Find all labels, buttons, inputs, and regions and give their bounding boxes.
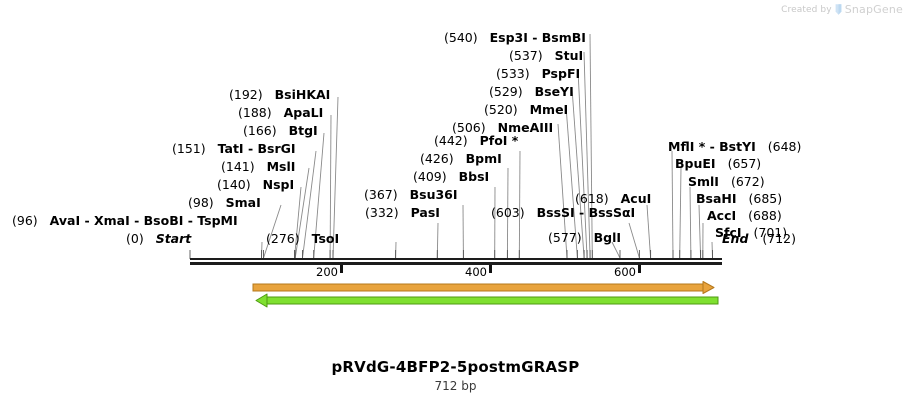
site-position: (140) (217, 177, 251, 192)
site-label-618[interactable]: (618) AcuI (575, 192, 651, 205)
site-label-442[interactable]: (442) PfoI * (434, 134, 518, 147)
site-enzymes: BtgI (289, 123, 318, 138)
ruler-tick-600 (638, 265, 641, 273)
site-enzymes: NspI (263, 177, 295, 192)
site-enzymes: Esp3I - BsmBI (490, 30, 586, 45)
terminal-position: (712) (762, 231, 796, 246)
site-label-276[interactable]: (276) TsoI (266, 232, 339, 245)
site-position: (520) (484, 102, 518, 117)
site-enzymes: MmeI (530, 102, 569, 117)
sequence-backbone[interactable] (190, 258, 722, 265)
site-position: (151) (172, 141, 206, 156)
plasmid-name: pRVdG-4BFP2-5postmGRASP (0, 358, 911, 376)
site-position: (657) (728, 156, 762, 171)
site-enzymes: BbsI (459, 169, 490, 184)
site-position: (98) (188, 195, 214, 210)
site-label-151[interactable]: (151) TatI - BsrGI (172, 142, 296, 155)
restriction-map-canvas: Created by SnapGene (0, 0, 911, 400)
site-label-409[interactable]: (409) BbsI (413, 170, 489, 183)
terminal-position: (0) (126, 231, 144, 246)
site-position: (688) (748, 208, 782, 223)
site-label-367[interactable]: (367) Bsu36I (364, 188, 458, 201)
site-position: (672) (731, 174, 765, 189)
feature-arrows (0, 284, 911, 310)
site-position: (367) (364, 187, 398, 202)
site-position: (618) (575, 191, 609, 206)
site-position: (426) (420, 151, 454, 166)
site-enzymes: BsaHI (696, 191, 737, 206)
site-position: (276) (266, 231, 300, 246)
plasmid-footer: pRVdG-4BFP2-5postmGRASP 712 bp (0, 358, 911, 393)
site-label-140[interactable]: (140) NspI (217, 178, 294, 191)
sequence-ruler: 200 400 600 (0, 265, 911, 283)
site-enzymes: AvaI - XmaI - BsoBI - TspMI (50, 213, 238, 228)
site-position: (141) (221, 159, 255, 174)
site-position: (577) (548, 230, 582, 245)
site-label-332[interactable]: (332) PasI (365, 206, 440, 219)
feature-green (256, 294, 718, 307)
site-enzymes: BssSI - BssSαI (537, 205, 636, 220)
site-position: (533) (496, 66, 530, 81)
site-position: (188) (238, 105, 272, 120)
site-position: (192) (229, 87, 263, 102)
feature-orange (253, 282, 714, 294)
site-enzymes: SmaI (226, 195, 261, 210)
site-enzymes: PspFI (542, 66, 581, 81)
site-enzymes: ApaLI (284, 105, 324, 120)
ruler-label-400: 400 (465, 265, 489, 279)
site-position: (442) (434, 133, 468, 148)
terminal-name: Start (156, 231, 192, 246)
site-label-688[interactable]: AccI (688) (707, 209, 782, 222)
site-label-577[interactable]: (577) BglI (548, 231, 621, 244)
site-label-96[interactable]: (96) AvaI - XmaI - BsoBI - TspMI (12, 214, 238, 227)
site-label-141[interactable]: (141) MslI (221, 160, 295, 173)
site-enzymes: StuI (555, 48, 584, 63)
ruler-label-200: 200 (316, 265, 340, 279)
terminal-label-start[interactable]: (0) Start (126, 232, 191, 245)
site-enzymes: PfoI * (480, 133, 519, 148)
ruler-label-600: 600 (614, 265, 638, 279)
site-label-648[interactable]: MflI * - BstYI (648) (668, 140, 801, 153)
ruler-tick-200 (340, 265, 343, 273)
site-enzymes: AcuI (621, 191, 652, 206)
site-label-98[interactable]: (98) SmaI (188, 196, 261, 209)
site-enzymes: BseYI (535, 84, 574, 99)
site-position: (96) (12, 213, 38, 228)
site-position: (648) (768, 139, 802, 154)
site-label-520[interactable]: (520) MmeI (484, 103, 568, 116)
site-label-672[interactable]: SmlI (672) (688, 175, 765, 188)
site-label-540[interactable]: (540) Esp3I - BsmBI (444, 31, 586, 44)
site-position: (540) (444, 30, 478, 45)
site-label-657[interactable]: BpuEI (657) (675, 157, 761, 170)
terminal-name: End (722, 231, 748, 246)
site-enzymes: Bsu36I (410, 187, 458, 202)
site-enzymes: MflI * - BstYI (668, 139, 756, 154)
site-enzymes: TsoI (312, 231, 340, 246)
site-enzymes: TatI - BsrGI (218, 141, 296, 156)
site-label-603[interactable]: (603) BssSI - BssSαI (491, 206, 635, 219)
site-position: (603) (491, 205, 525, 220)
site-position: (685) (749, 191, 783, 206)
site-enzymes: PasI (411, 205, 440, 220)
site-enzymes: AccI (707, 208, 736, 223)
plasmid-length: 712 bp (0, 379, 911, 393)
site-label-533[interactable]: (533) PspFI (496, 67, 580, 80)
site-enzymes: BpmI (466, 151, 502, 166)
site-position: (537) (509, 48, 543, 63)
backbone-line-top (190, 258, 722, 260)
site-position: (332) (365, 205, 399, 220)
site-label-166[interactable]: (166) BtgI (243, 124, 318, 137)
site-label-685[interactable]: BsaHI (685) (696, 192, 782, 205)
site-label-529[interactable]: (529) BseYI (489, 85, 574, 98)
site-enzymes: SmlI (688, 174, 719, 189)
site-enzymes: MslI (267, 159, 296, 174)
terminal-label-end[interactable]: End (712) (722, 232, 796, 245)
site-label-537[interactable]: (537) StuI (509, 49, 583, 62)
site-position: (409) (413, 169, 447, 184)
site-label-188[interactable]: (188) ApaLI (238, 106, 323, 119)
site-enzymes: BsiHKAI (275, 87, 331, 102)
site-label-192[interactable]: (192) BsiHKAI (229, 88, 330, 101)
site-position: (529) (489, 84, 523, 99)
ruler-tick-400 (489, 265, 492, 273)
site-label-426[interactable]: (426) BpmI (420, 152, 502, 165)
site-enzymes: BglI (594, 230, 621, 245)
site-position: (166) (243, 123, 277, 138)
site-enzymes: BpuEI (675, 156, 716, 171)
